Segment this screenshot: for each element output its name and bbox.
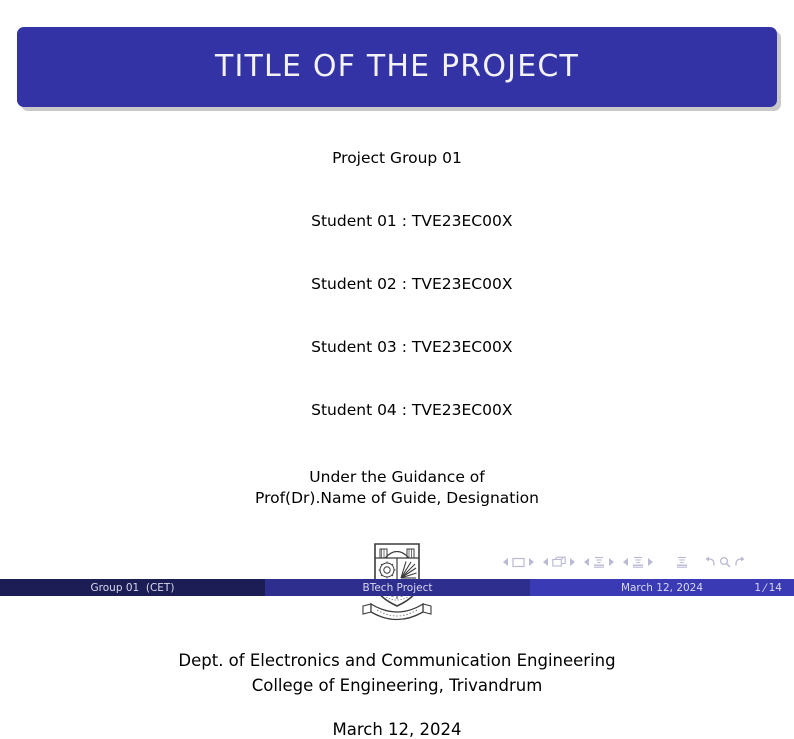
student-label: Student 03 : [311, 338, 407, 356]
department-name: Dept. of Electronics and Communication E… [0, 649, 794, 674]
prev-subsection-arrow[interactable] [584, 558, 590, 566]
guidance-heading: Under the Guidance of [0, 467, 794, 488]
student-roll: TVE23EC00X [412, 401, 513, 419]
presentation-slide: { "slide": { "title": "TITLE OF THE PROJ… [0, 0, 794, 596]
affiliation-section: Dept. of Electronics and Communication E… [0, 649, 794, 698]
prev-slide-arrow[interactable] [503, 558, 509, 566]
page-total: 14 [769, 582, 782, 594]
subsection-icon[interactable] [593, 556, 605, 568]
search-icon[interactable] [719, 556, 731, 568]
student-label: Student 02 : [311, 275, 407, 293]
nav-history-group[interactable] [704, 556, 746, 568]
nav-section-group[interactable] [623, 556, 653, 568]
nav-frame-group[interactable] [543, 556, 575, 568]
institution-name: College of Engineering, Trivandrum [0, 674, 794, 699]
title-block-body: TITLE OF THE PROJECT [17, 27, 777, 107]
slide-content: Project Group 01 Student 01 : TVE23EC00X… [0, 140, 794, 739]
student-roll: TVE23EC00X [412, 212, 513, 230]
frames-icon[interactable] [552, 556, 566, 568]
student-roll: TVE23EC00X [412, 275, 513, 293]
next-slide-arrow[interactable] [528, 558, 534, 566]
footer-right-segment: March 12, 2024 1/14 [530, 579, 794, 596]
next-frame-arrow[interactable] [569, 558, 575, 566]
prev-frame-arrow[interactable] [543, 558, 549, 566]
footer-page-number: 1/14 [754, 582, 782, 594]
project-group-label: Project Group 01 [0, 149, 794, 167]
guide-name: Prof(Dr).Name of Guide, Designation [0, 488, 794, 509]
slide-icon[interactable] [512, 557, 525, 568]
student-label: Student 01 : [311, 212, 407, 230]
list-item: Student 03 : TVE23EC00X [282, 316, 513, 379]
next-subsection-arrow[interactable] [608, 558, 614, 566]
student-roll: TVE23EC00X [412, 338, 513, 356]
guidance-section: Under the Guidance of Prof(Dr).Name of G… [0, 467, 794, 509]
list-item: Student 02 : TVE23EC00X [282, 253, 513, 316]
forward-icon[interactable] [734, 556, 746, 568]
footer-title: BTech Project [265, 579, 530, 596]
list-item: Student 01 : TVE23EC00X [282, 190, 513, 253]
back-icon[interactable] [704, 556, 716, 568]
page-title: TITLE OF THE PROJECT [215, 52, 579, 82]
presentation-icon[interactable] [676, 556, 688, 568]
next-section-arrow[interactable] [647, 558, 653, 566]
presentation-date: March 12, 2024 [0, 720, 794, 739]
beamer-navigation-symbols[interactable] [503, 551, 783, 573]
nav-subsection-group[interactable] [584, 556, 614, 568]
footer-author: Group 01 (CET) [0, 579, 265, 596]
section-icon[interactable] [632, 556, 644, 568]
student-label: Student 04 : [311, 401, 407, 419]
nav-slide-group[interactable] [503, 557, 534, 568]
footer-bar: Group 01 (CET) BTech Project March 12, 2… [0, 579, 794, 596]
student-list: Student 01 : TVE23EC00X Student 02 : TVE… [282, 190, 513, 442]
title-block: TITLE OF THE PROJECT [17, 27, 777, 107]
prev-section-arrow[interactable] [623, 558, 629, 566]
list-item: Student 04 : TVE23EC00X [282, 379, 513, 442]
